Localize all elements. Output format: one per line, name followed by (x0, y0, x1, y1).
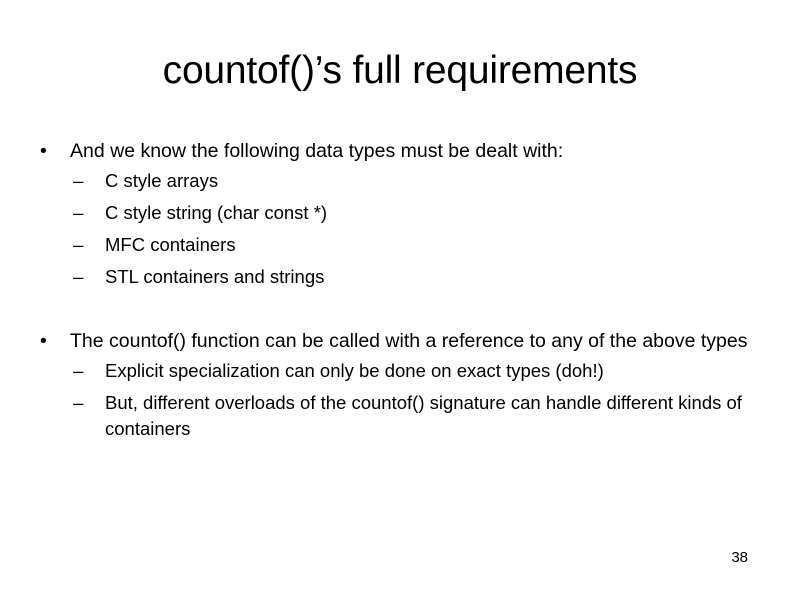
bullet-group-spacer (0, 296, 800, 328)
bullet-dash-icon: – (73, 168, 83, 194)
slide-title: countof()’s full requirements (60, 48, 740, 94)
bullet-dash-icon: – (73, 390, 83, 416)
slide: countof()’s full requirements • And we k… (0, 0, 800, 600)
bullet-text: C style arrays (105, 168, 800, 194)
bullet-item-level1: • The countof() function can be called w… (0, 328, 800, 354)
bullet-text: C style string (char const *) (105, 200, 800, 226)
bullet-item-level2: – STL containers and strings (0, 264, 800, 290)
bullet-dash-icon: – (73, 264, 83, 290)
bullet-item-level2: – C style string (char const *) (0, 200, 800, 226)
bullet-text: And we know the following data types mus… (70, 138, 800, 164)
bullet-text: But, different overloads of the countof(… (105, 390, 800, 442)
bullet-dot-icon: • (40, 328, 47, 354)
bullet-item-level1: • And we know the following data types m… (0, 138, 800, 164)
bullet-item-level2: – Explicit specialization can only be do… (0, 358, 800, 384)
bullet-dash-icon: – (73, 200, 83, 226)
bullet-item-level2: – But, different overloads of the counto… (0, 390, 800, 442)
page-number: 38 (731, 549, 748, 567)
bullet-item-level2: – MFC containers (0, 232, 800, 258)
bullet-dot-icon: • (40, 138, 47, 164)
bullet-text: Explicit specialization can only be done… (105, 358, 800, 384)
bullet-text: STL containers and strings (105, 264, 800, 290)
bullet-text: The countof() function can be called wit… (70, 328, 800, 354)
bullet-dash-icon: – (73, 232, 83, 258)
bullet-dash-icon: – (73, 358, 83, 384)
slide-body: • And we know the following data types m… (0, 138, 800, 448)
bullet-text: MFC containers (105, 232, 800, 258)
bullet-item-level2: – C style arrays (0, 168, 800, 194)
